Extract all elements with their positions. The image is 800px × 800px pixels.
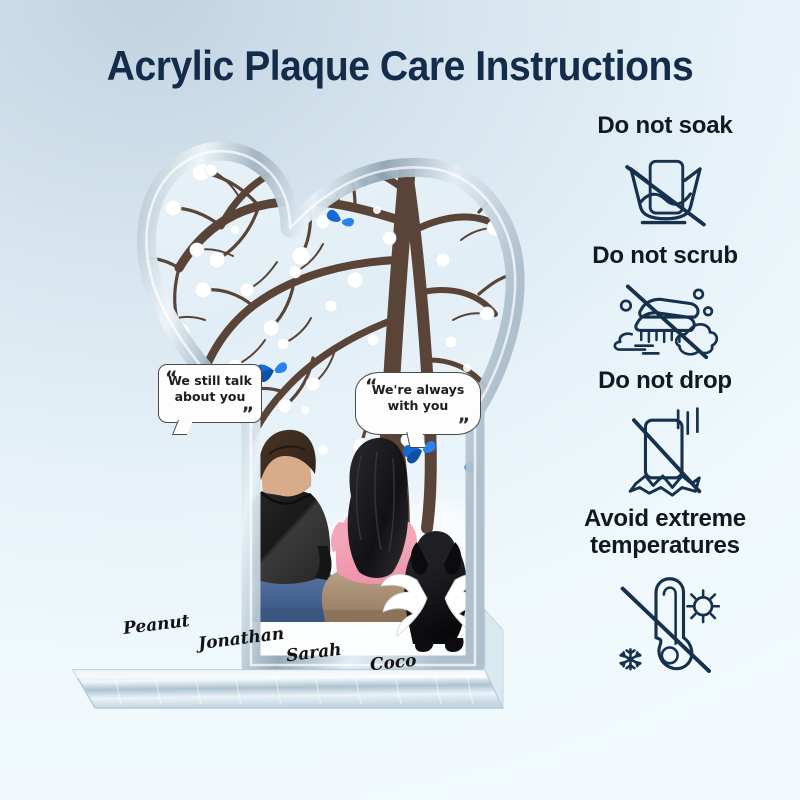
care-item-do-not-drop: Do not drop	[540, 367, 790, 499]
quote-close-mark: ”	[242, 405, 255, 424]
speech-bubble-right: “ We're always with you ”	[355, 372, 481, 435]
no-soak-icon	[608, 144, 723, 236]
care-item-do-not-scrub: Do not scrub	[540, 242, 790, 360]
no-drop-icon	[607, 399, 722, 499]
no-scrub-icon	[603, 275, 727, 361]
care-label-do-not-drop: Do not drop	[540, 367, 790, 394]
speech-bubble-left: “ We still talk about you ”	[158, 364, 262, 423]
quote-open-mark: “	[165, 369, 178, 388]
care-label-do-not-scrub: Do not scrub	[540, 242, 790, 269]
angel-wing-icon	[133, 538, 179, 598]
care-item-avoid-extreme-temperatures: Avoid extreme temperatures	[540, 505, 790, 675]
snowflake-icon	[621, 649, 641, 669]
care-item-do-not-soak: Do not soak	[540, 112, 790, 236]
dog-peanut-figure	[133, 488, 235, 613]
care-label-do-not-soak: Do not soak	[540, 112, 790, 139]
quote-open-mark: “	[365, 377, 378, 396]
speech-bubble-left-text: We still talk about you	[168, 373, 252, 404]
speech-bubble-right-text: We're always with you	[372, 382, 465, 413]
acrylic-plaque-image: “ We still talk about you ” “ We're alwa…	[55, 110, 525, 720]
page-title: Acrylic Plaque Care Instructions	[28, 42, 772, 90]
care-instruction-list: Do not soak Do not scrub Do not drop	[540, 112, 790, 681]
no-extreme-temperature-icon	[601, 565, 729, 675]
care-label-avoid-extreme-temperatures: Avoid extreme temperatures	[540, 505, 790, 560]
quote-close-mark: ”	[458, 416, 471, 435]
